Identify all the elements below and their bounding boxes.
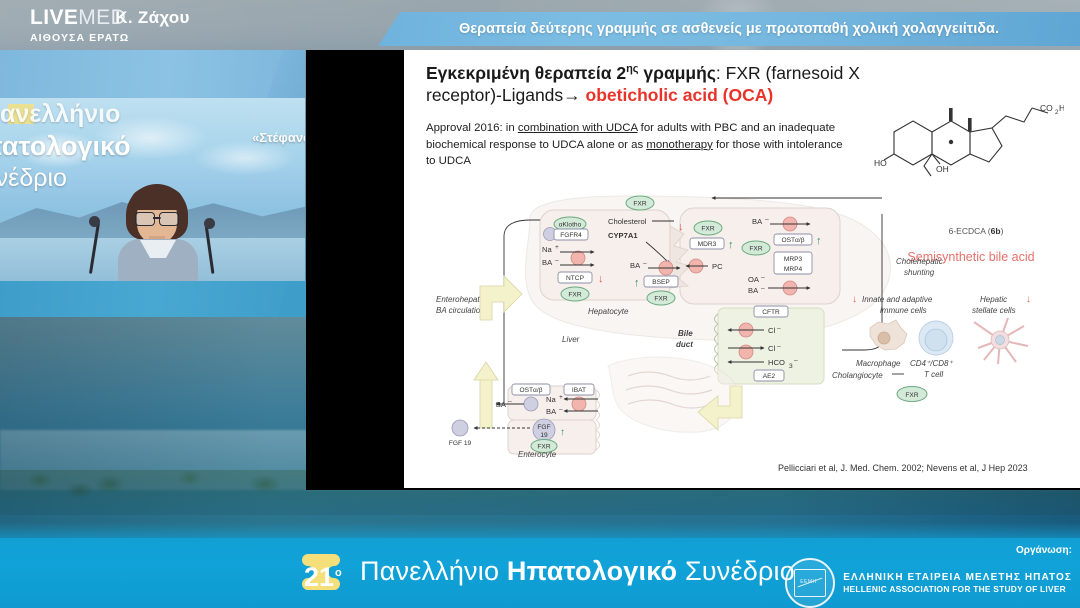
svg-text:3: 3 (789, 363, 793, 370)
speaker-name: Κ. Ζάχου (0, 0, 305, 36)
svg-text:FXR: FXR (633, 201, 646, 208)
slide-citation: Pellicciari et al, J. Med. Chem. 2002; N… (778, 463, 1068, 473)
svg-text:↑: ↑ (816, 235, 822, 247)
svg-text:Hepatic: Hepatic (980, 295, 1007, 304)
svg-text:Enterohepatic: Enterohepatic (436, 295, 485, 304)
heading-part2: γραμμής (639, 63, 716, 83)
svg-text:OSTα/β: OSTα/β (520, 387, 543, 394)
conference-title-bold: Ηπατολογικό (507, 556, 677, 586)
svg-text:o: o (335, 567, 342, 579)
svg-text:Liver: Liver (562, 335, 580, 344)
svg-text:MRP4: MRP4 (784, 266, 803, 273)
svg-text:αKlotho: αKlotho (559, 222, 582, 229)
svg-text:OH: OH (936, 164, 949, 174)
svg-text:CFTR: CFTR (762, 309, 780, 316)
speaker-figure (118, 184, 198, 281)
svg-text:BA: BA (630, 261, 641, 270)
conference-title: Πανελλήνιο Ηπατολογικό Συνέδριο (360, 556, 795, 587)
svg-text:BA circulation: BA circulation (436, 306, 485, 315)
svg-text:FXR: FXR (749, 246, 762, 253)
svg-text:PC: PC (712, 262, 723, 271)
svg-text:–: – (761, 285, 765, 292)
svg-text:–: – (777, 325, 781, 332)
svg-text:BSEP: BSEP (652, 279, 670, 286)
svg-text:+: + (559, 394, 563, 401)
eemh-logo-icon: ΕΕΜΗ (785, 558, 835, 608)
glasses-icon (135, 212, 179, 224)
organizer-label: Οργάνωση: (785, 545, 1072, 556)
conference-edition-logo: 21 o (302, 548, 354, 600)
svg-text:H: H (1059, 103, 1064, 113)
bile-acid-pathway-diagram: .cell{fill:#f7efeb;stroke:#ded2cc;stroke… (412, 190, 1072, 458)
svg-text:Cholehepatic: Cholehepatic (896, 257, 943, 266)
svg-text:↑: ↑ (560, 427, 565, 438)
svg-text:FXR: FXR (701, 226, 714, 233)
slide-body: Approval 2016: in combination with UDCA … (426, 120, 846, 170)
svg-text:Cl: Cl (768, 344, 775, 353)
svg-text:Cl: Cl (768, 326, 775, 335)
body-line1-underlined: combination with UDCA (518, 122, 638, 134)
svg-text:duct: duct (676, 340, 693, 349)
svg-text:immune cells: immune cells (880, 306, 927, 315)
svg-text:Enterocyte: Enterocyte (518, 450, 557, 458)
svg-text:stellate cells: stellate cells (972, 306, 1016, 315)
svg-text:IBAT: IBAT (572, 387, 586, 394)
svg-text:–: – (559, 406, 563, 413)
microphone-left-head (89, 216, 100, 227)
conference-title-part2: Συνέδριο (677, 556, 795, 586)
svg-text:Innate and adaptive: Innate and adaptive (862, 295, 933, 304)
svg-text:FXR: FXR (568, 292, 581, 299)
microphone-right-head (204, 218, 215, 229)
svg-text:↓: ↓ (678, 221, 684, 233)
organizer-name-english: HELLENIC ASSOCIATION FOR THE STUDY OF LI… (843, 584, 1072, 595)
svg-text:Hepatocyte: Hepatocyte (588, 307, 629, 316)
svg-text:FGF 19: FGF 19 (449, 440, 472, 447)
svg-text:Macrophage: Macrophage (856, 359, 901, 368)
body-line1-a: Approval 2016: in (426, 122, 518, 134)
slide-content: Εγκεκριμένη θεραπεία 2ης γραμμής: FXR (f… (404, 50, 1080, 488)
svg-text:–: – (643, 260, 647, 267)
svg-text:–: – (761, 274, 765, 281)
svg-text:shunting: shunting (904, 268, 935, 277)
svg-text:HCO: HCO (768, 358, 785, 367)
svg-text:BA: BA (546, 407, 557, 416)
svg-text:HO: HO (874, 158, 887, 168)
svg-text:OA: OA (748, 275, 760, 284)
svg-text:↓: ↓ (852, 294, 857, 305)
svg-text:19: 19 (540, 432, 548, 439)
heading-arrow: → (563, 85, 581, 105)
svg-text:↓: ↓ (1026, 294, 1031, 305)
svg-text:CD4⁺/CD8⁺: CD4⁺/CD8⁺ (910, 359, 953, 368)
speaker-video[interactable]: Πανελλήνιο πατολογικό υνέδριο «Στέφανο (0, 98, 305, 281)
organizer-name-greek: ΕΛΛΗΝΙΚΗ ΕΤΑΙΡΕΙΑ ΜΕΛΕΤΗΣ ΗΠΑΤΟΣ (843, 572, 1072, 585)
svg-text:Na: Na (546, 395, 556, 404)
svg-text:BA: BA (748, 286, 759, 295)
footer-fade (0, 522, 1080, 542)
svg-text:Bile: Bile (678, 329, 693, 338)
svg-text:CO: CO (1040, 103, 1053, 113)
slide-heading: Εγκεκριμένη θεραπεία 2ης γραμμής: FXR (f… (426, 62, 866, 107)
svg-text:FGF: FGF (537, 424, 550, 431)
svg-text:Cholesterol: Cholesterol (608, 217, 647, 226)
eemh-mark-text: ΕΕΜΗ (800, 579, 816, 585)
svg-text:MRP3: MRP3 (784, 256, 803, 263)
svg-text:OSTα/β: OSTα/β (782, 237, 805, 244)
organizer-block: Οργάνωση: ΕΕΜΗ ΕΛΛΗΝΙΚΗ ΕΤΑΙΡΕΙΑ ΜΕΛΕΤΗΣ… (785, 545, 1072, 608)
heading-part1: Εγκεκριμένη θεραπεία 2 (426, 63, 626, 83)
backdrop-line-3: υνέδριο (0, 166, 131, 191)
svg-text:NTCP: NTCP (566, 275, 585, 282)
heading-sup: ης (626, 63, 638, 75)
slide-viewer[interactable]: Εγκεκριμένη θεραπεία 2ης γραμμής: FXR (f… (306, 50, 1080, 490)
svg-text:↓: ↓ (598, 273, 604, 285)
svg-text:T cell: T cell (924, 370, 943, 379)
backdrop-subtitle: «Στέφανο (252, 130, 305, 145)
backdrop-line-2: πατολογικό (0, 133, 131, 160)
svg-text:MDR3: MDR3 (698, 241, 717, 248)
svg-text:–: – (794, 357, 798, 364)
svg-text:AE2: AE2 (763, 373, 776, 380)
svg-text:FGFR4: FGFR4 (560, 232, 582, 239)
svg-text:BA: BA (496, 400, 507, 409)
svg-text:↑: ↑ (728, 239, 734, 251)
conference-title-part1: Πανελλήνιο (360, 556, 507, 586)
svg-text:↑: ↑ (634, 277, 640, 289)
svg-text:FXR: FXR (654, 296, 667, 303)
svg-text:+: + (555, 244, 559, 251)
heading-drug: obeticholic acid (OCA) (586, 85, 774, 105)
svg-text:21: 21 (304, 562, 334, 592)
speaker-name-bar (0, 281, 305, 317)
svg-text:–: – (765, 216, 769, 223)
backdrop-text: Πανελλήνιο πατολογικό υνέδριο (0, 102, 131, 191)
body-line1-b: for adults with PBC (637, 122, 737, 134)
svg-text:Na: Na (542, 245, 552, 254)
svg-text:FXR: FXR (905, 392, 918, 399)
session-title: Θεραπεία δεύτερης γραμμής σε ασθενείς με… (378, 12, 1080, 46)
svg-text:Cholangiocyte: Cholangiocyte (832, 371, 883, 380)
left-accent-banner (0, 50, 305, 98)
backdrop-line-1: Πανελλήνιο (0, 102, 131, 127)
svg-text:CYP7A1: CYP7A1 (608, 231, 638, 240)
svg-text:BA: BA (752, 217, 763, 226)
svg-text:–: – (777, 343, 781, 350)
screen: LIVEMED ΑΙΘΟΥΣΑ ΕΡΑΤΩ Θεραπεία δεύτερης … (0, 0, 1080, 608)
svg-text:–: – (555, 257, 559, 264)
svg-text:BA: BA (542, 258, 553, 267)
body-line3-underlined: monotherapy (646, 139, 713, 151)
